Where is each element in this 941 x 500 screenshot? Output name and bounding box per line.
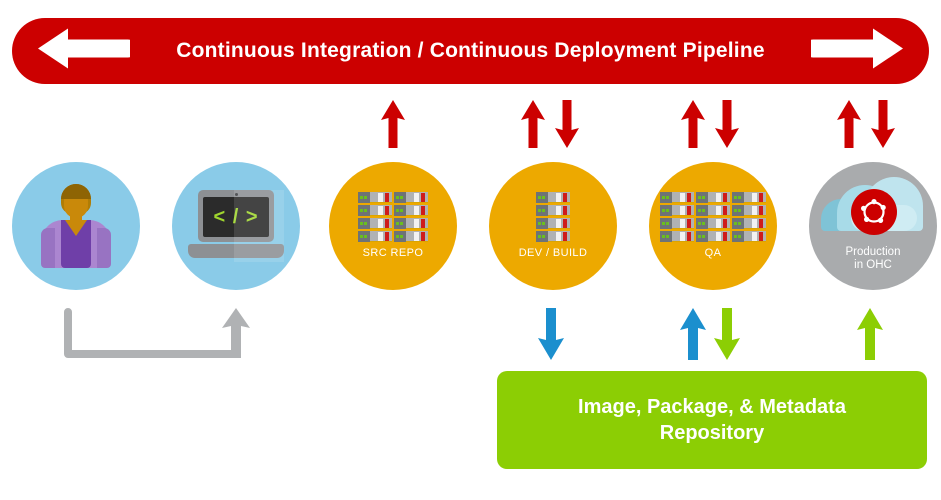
top-arrow-qa-down — [714, 100, 740, 153]
node-label-production-line2: in OHC — [846, 259, 901, 272]
server-rack-icon — [660, 192, 766, 242]
page-title: Continuous Integration / Continuous Depl… — [176, 39, 765, 63]
node-dev-build[interactable]: DEV / BUILD — [489, 162, 617, 290]
top-arrow-production-up — [836, 100, 862, 153]
top-arrow-production-down — [870, 100, 896, 153]
laptop-code-icon: < / > — [188, 190, 284, 262]
repository-label-line2: Repository — [578, 420, 846, 446]
cloud-openshift-icon — [821, 175, 925, 241]
repository-label-line1: Image, Package, & Metadata — [578, 394, 846, 420]
node-developer[interactable] — [12, 162, 140, 290]
server-rack-icon — [358, 192, 428, 242]
node-label-dev-build: DEV / BUILD — [519, 247, 588, 259]
node-qa[interactable]: QA — [649, 162, 777, 290]
bottom-arrow-dev-build-down — [537, 308, 565, 365]
node-workstation[interactable]: < / > — [172, 162, 300, 290]
arrow-right-icon — [811, 27, 903, 76]
top-arrow-qa-up — [680, 100, 706, 153]
openshift-logo-icon — [851, 189, 897, 235]
node-label-qa: QA — [705, 247, 722, 259]
node-label-production-line1: Production — [846, 246, 901, 259]
connector-developer-to-workstation — [64, 308, 254, 369]
node-label-production: Production in OHC — [846, 246, 901, 272]
node-label-src-repo: SRC REPO — [363, 247, 424, 259]
server-rack-icon — [536, 192, 570, 242]
cicd-pipeline-diagram: Continuous Integration / Continuous Depl… — [0, 0, 941, 500]
arrow-left-icon — [38, 27, 130, 76]
person-icon — [37, 184, 115, 268]
repository-label: Image, Package, & Metadata Repository — [578, 394, 846, 446]
pipeline-banner: Continuous Integration / Continuous Depl… — [12, 18, 929, 84]
top-arrow-dev-build-down — [554, 100, 580, 153]
bottom-arrow-qa-up — [679, 308, 707, 365]
node-src-repo[interactable]: SRC REPO — [329, 162, 457, 290]
top-arrow-dev-build-up — [520, 100, 546, 153]
node-production[interactable]: Production in OHC — [809, 162, 937, 290]
bottom-arrow-production-up — [856, 308, 884, 365]
bottom-arrow-qa-down — [713, 308, 741, 365]
repository-box[interactable]: Image, Package, & Metadata Repository — [497, 371, 927, 469]
top-arrow-src-repo — [380, 100, 406, 153]
